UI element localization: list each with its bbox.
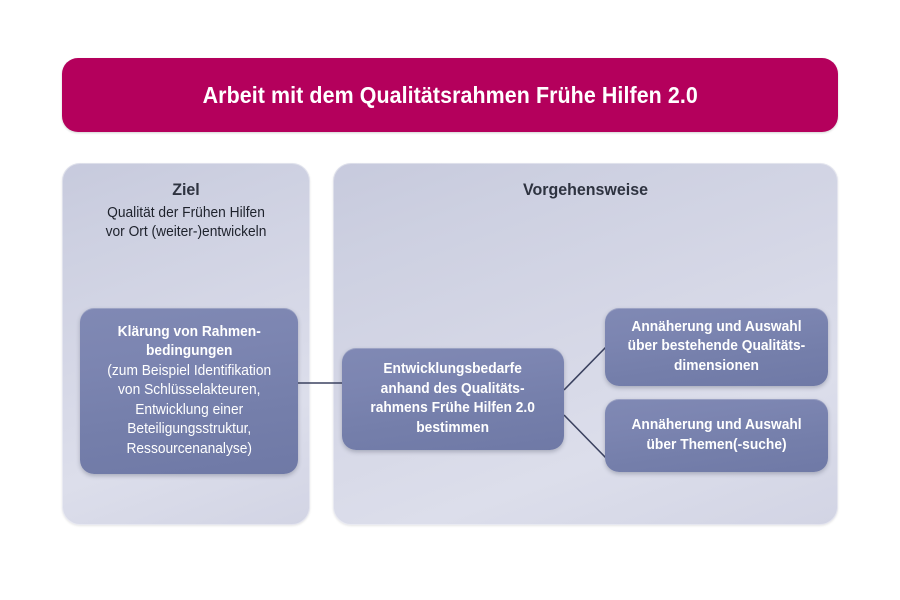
process-box-themensuche[interactable]: Annäherung und Auswahl über Themen(-such… [605, 399, 828, 472]
text-line: über Themen(-suche) [631, 436, 801, 456]
text-line: bedingungen [107, 342, 271, 362]
text-line: Klärung von Rahmen- [107, 323, 271, 343]
text-line: Ressourcenanalyse) [107, 440, 271, 460]
text-line: Entwicklungsbedarfe [371, 360, 536, 380]
text-line: Annäherung und Auswahl [631, 416, 801, 436]
text-line: anhand des Qualitäts- [371, 380, 536, 400]
text-line: Entwicklung einer [107, 401, 271, 421]
diagram-title-banner: Arbeit mit dem Qualitätsrahmen Frühe Hil… [62, 58, 838, 132]
process-box-rahmenbedingungen-text: Klärung von Rahmen- bedingungen (zum Bei… [101, 323, 276, 460]
text-line: Annäherung und Auswahl [628, 318, 806, 338]
panel-ziel-subtitle-line-2: vor Ort (weiter-)entwickeln [78, 223, 295, 242]
text-line: (zum Beispiel Identifikation [107, 362, 271, 382]
process-box-qualitaetsdimensionen[interactable]: Annäherung und Auswahl über bestehende Q… [605, 308, 828, 386]
panel-ziel-heading: Ziel [69, 180, 302, 200]
process-box-rahmenbedingungen[interactable]: Klärung von Rahmen- bedingungen (zum Bei… [80, 308, 298, 474]
text-line: bestimmen [371, 419, 536, 439]
process-box-qualitaetsdimensionen-text: Annäherung und Auswahl über bestehende Q… [622, 318, 811, 377]
text-line: Beteiligungsstruktur, [107, 420, 271, 440]
panel-ziel-subtitle-line-1: Qualität der Frühen Hilfen [78, 204, 295, 223]
panel-vorgehensweise-heading: Vorgehensweise [348, 180, 823, 200]
process-box-entwicklungsbedarfe[interactable]: Entwicklungsbedarfe anhand des Qualitäts… [342, 348, 564, 450]
diagram-canvas: Arbeit mit dem Qualitätsrahmen Frühe Hil… [0, 0, 900, 600]
text-line: von Schlüsselakteuren, [107, 381, 271, 401]
text-line: über bestehende Qualitäts- [628, 337, 806, 357]
text-line: dimensionen [628, 357, 806, 377]
panel-ziel-subtitle: Qualität der Frühen Hilfen vor Ort (weit… [78, 204, 295, 242]
process-box-themensuche-text: Annäherung und Auswahl über Themen(-such… [626, 416, 808, 455]
text-line: rahmens Frühe Hilfen 2.0 [371, 399, 536, 419]
diagram-title-text: Arbeit mit dem Qualitätsrahmen Frühe Hil… [202, 82, 697, 109]
process-box-entwicklungsbedarfe-text: Entwicklungsbedarfe anhand des Qualitäts… [365, 360, 541, 438]
